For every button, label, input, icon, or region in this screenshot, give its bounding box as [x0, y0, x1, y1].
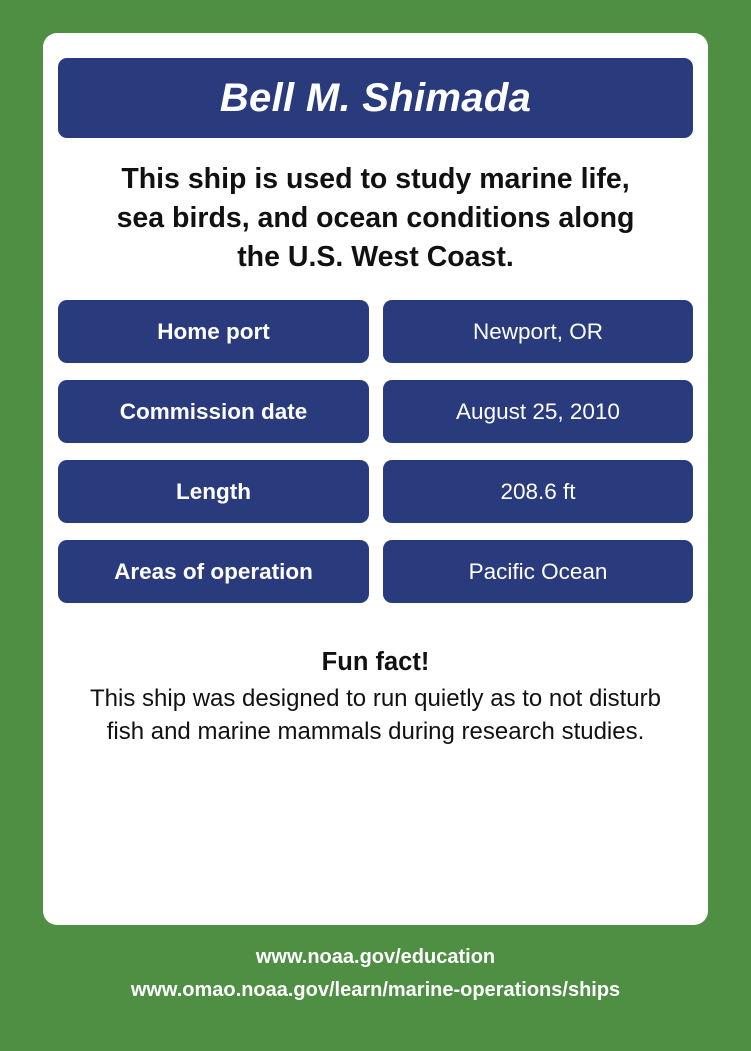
- spec-label-length: Length: [58, 460, 369, 523]
- page-title: Bell M. Shimada: [220, 78, 531, 118]
- info-card: Bell M. Shimada This ship is used to stu…: [43, 33, 708, 925]
- spec-value-length: 208.6 ft: [383, 460, 693, 523]
- table-row: Areas of operation Pacific Ocean: [58, 540, 693, 603]
- spec-value-areas-of-operation: Pacific Ocean: [383, 540, 693, 603]
- table-row: Length 208.6 ft: [58, 460, 693, 523]
- fun-fact-heading: Fun fact!: [80, 647, 671, 678]
- spec-value-commission-date: August 25, 2010: [383, 380, 693, 443]
- spec-label-home-port: Home port: [58, 300, 369, 363]
- title-banner: Bell M. Shimada: [58, 58, 693, 138]
- spec-table: Home port Newport, OR Commission date Au…: [58, 300, 693, 603]
- spec-label-commission-date: Commission date: [58, 380, 369, 443]
- fun-fact-body: This ship was designed to run quietly as…: [80, 682, 671, 748]
- ship-fact-card-poster: Bell M. Shimada This ship is used to stu…: [0, 0, 751, 1051]
- footer-link-noaa-education[interactable]: www.noaa.gov/education: [0, 944, 751, 970]
- spec-value-home-port: Newport, OR: [383, 300, 693, 363]
- ship-description: This ship is used to study marine life, …: [58, 138, 693, 277]
- fun-fact-section: Fun fact! This ship was designed to run …: [58, 647, 693, 748]
- table-row: Home port Newport, OR: [58, 300, 693, 363]
- footer: www.noaa.gov/education www.omao.noaa.gov…: [0, 944, 751, 1004]
- table-row: Commission date August 25, 2010: [58, 380, 693, 443]
- footer-link-omao-ships[interactable]: www.omao.noaa.gov/learn/marine-operation…: [0, 977, 751, 1003]
- spec-label-areas-of-operation: Areas of operation: [58, 540, 369, 603]
